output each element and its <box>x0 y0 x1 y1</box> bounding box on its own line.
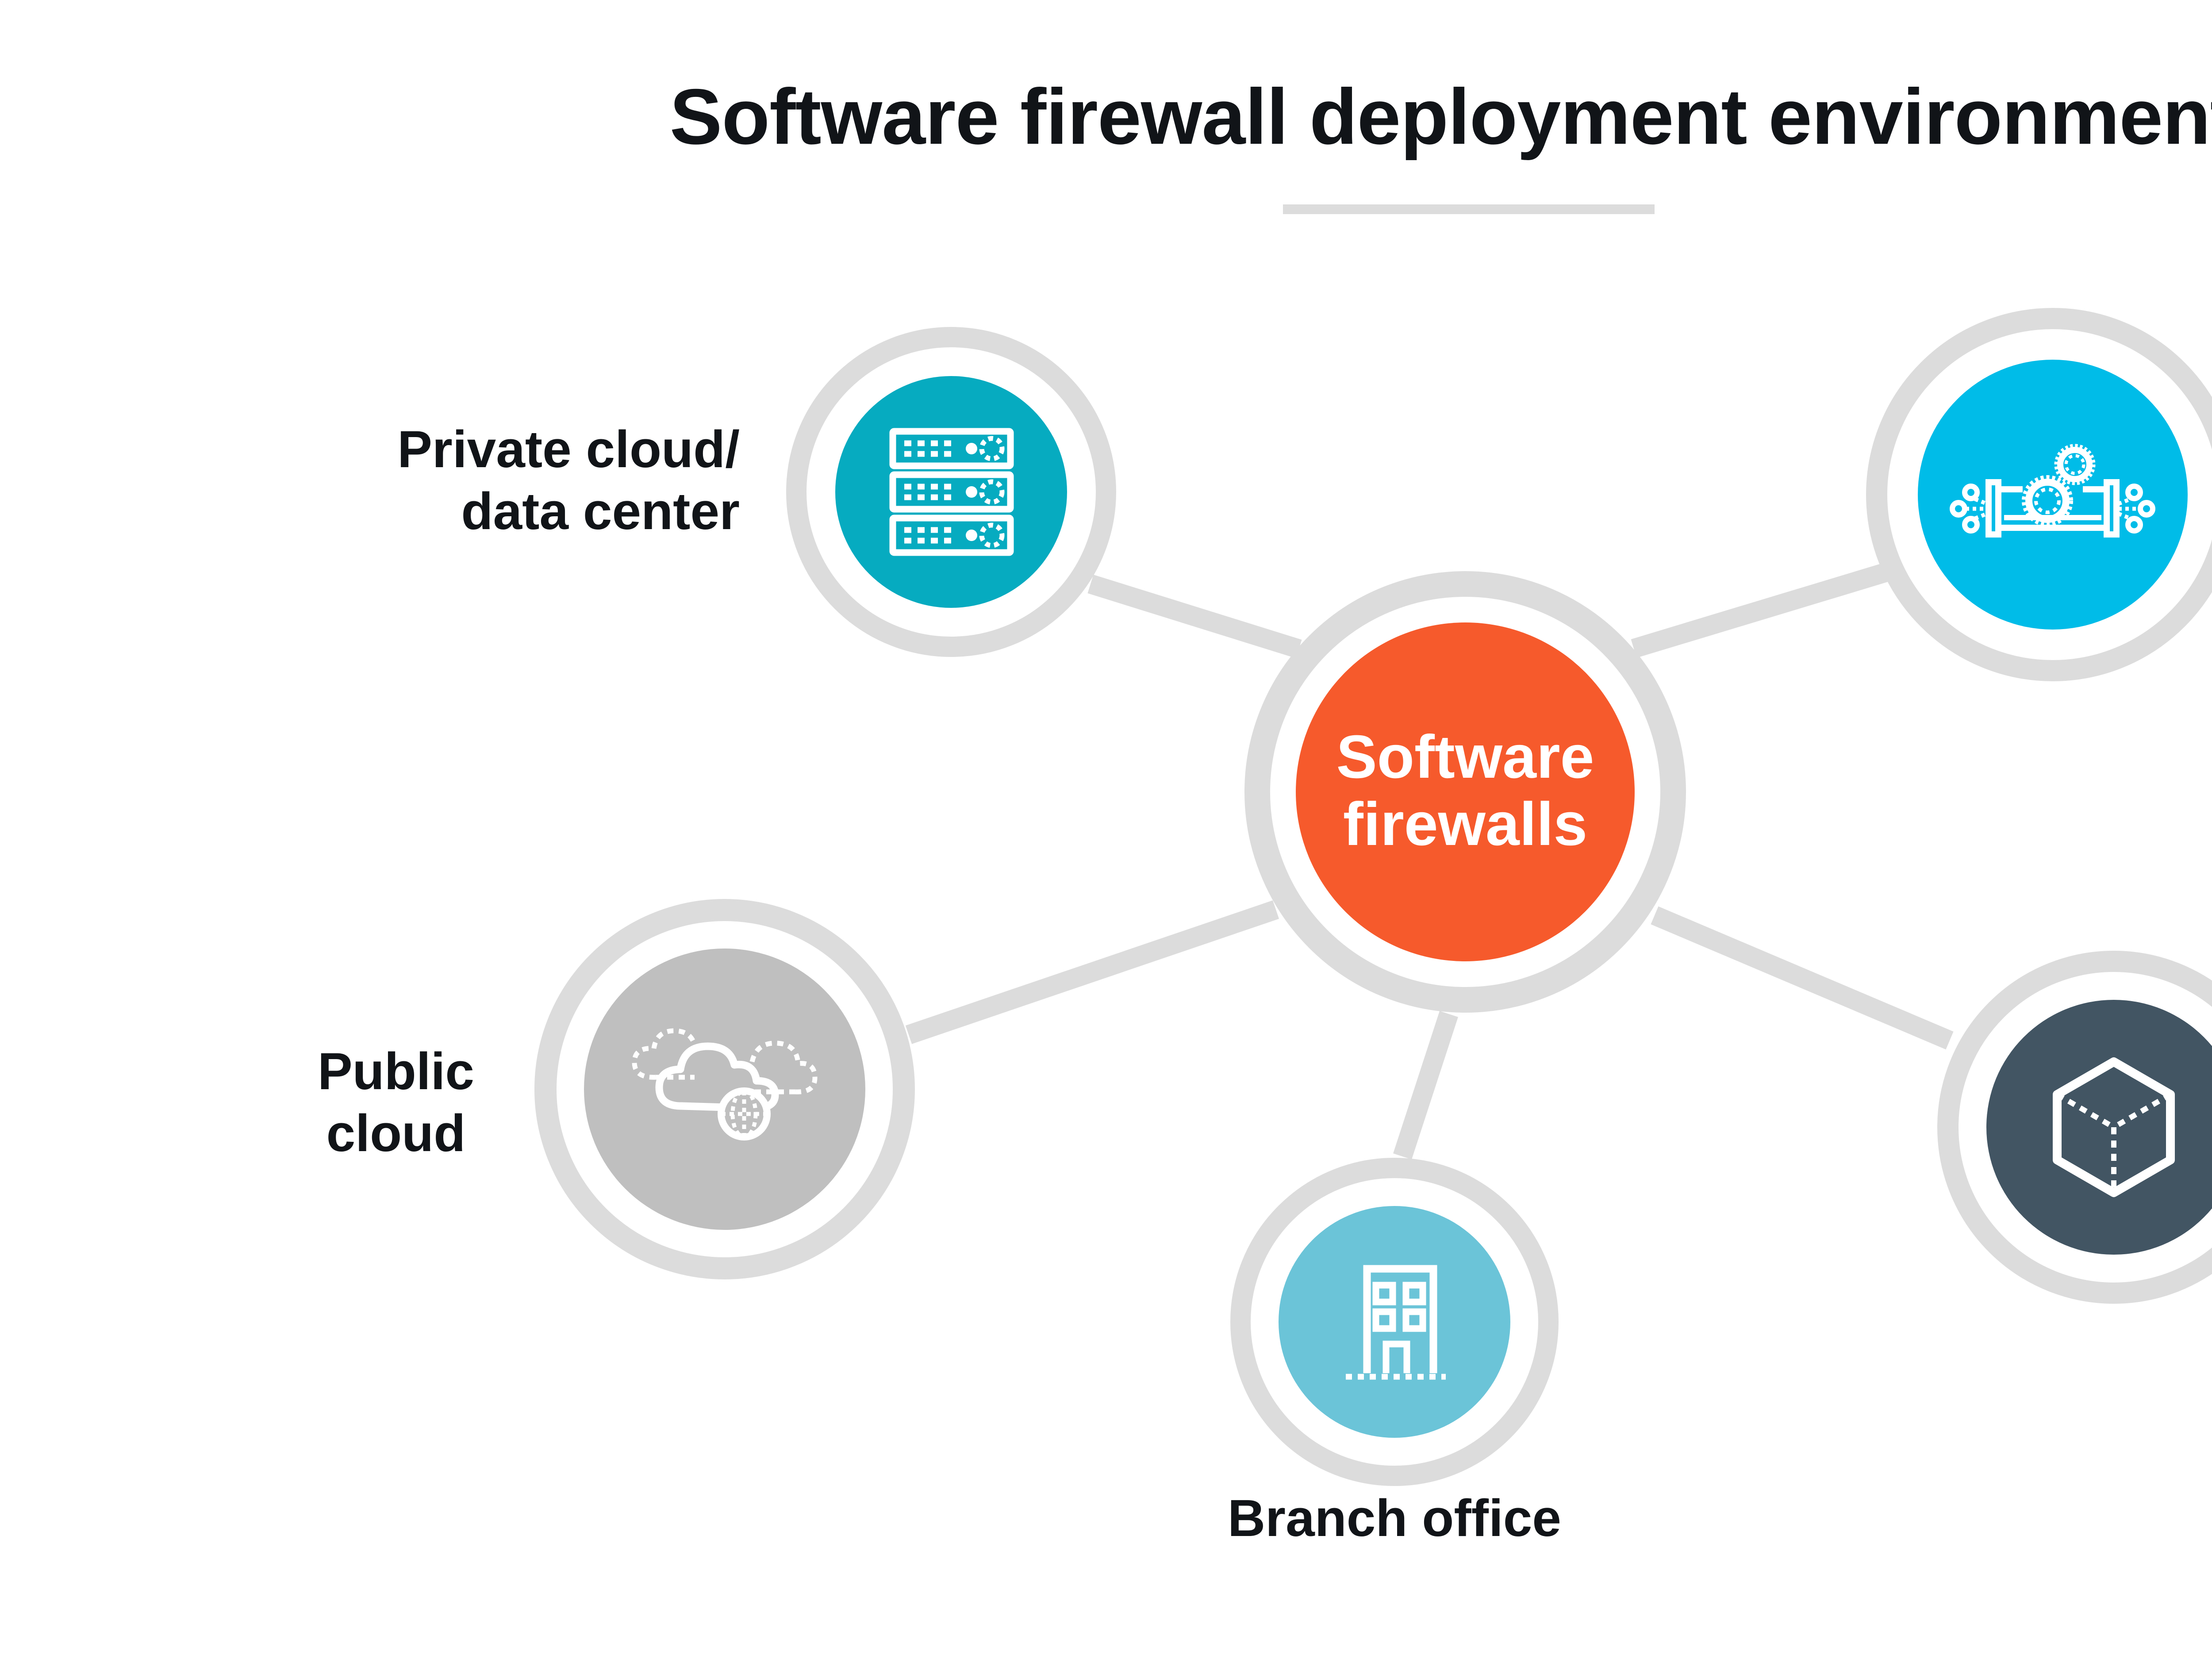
node-label-public-cloud-line2: cloud <box>326 1104 466 1163</box>
page-title: Software firewall deployment environment… <box>670 73 2212 161</box>
hub-and-spoke-diagram: Software firewall deployment environment… <box>0 0 2212 1659</box>
node-label-private-cloud-line2: data center <box>461 482 740 541</box>
connector-branch-office <box>1402 1014 1449 1156</box>
node-disc-private-cloud <box>835 376 1067 608</box>
node-private-cloud-data-center[interactable]: Private cloud/ data center <box>397 337 1106 647</box>
diagram-canvas: Software firewall deployment environment… <box>0 0 2212 1659</box>
node-disc-public-cloud <box>584 949 865 1230</box>
node-label-private-cloud-line1: Private cloud/ <box>397 420 740 479</box>
node-disc-devops-pipeline <box>1918 360 2188 630</box>
node-devops-pipeline[interactable]: DevOps pipeline <box>1877 319 2212 671</box>
node-branch-office[interactable]: Branch office <box>1228 1168 1561 1548</box>
node-disc-container-environment <box>1986 1000 2212 1255</box>
hub-label-line1: Software <box>1336 723 1594 791</box>
node-public-cloud[interactable]: Public cloud <box>318 910 904 1268</box>
node-container-environment[interactable]: Container environment <box>1948 961 2212 1340</box>
node-label-public-cloud-line1: Public <box>318 1042 474 1101</box>
connector-container-environment <box>1655 915 1950 1041</box>
hub-software-firewalls[interactable]: Software firewalls <box>1257 584 1673 1000</box>
connector-public-cloud <box>909 910 1276 1035</box>
connector-private-cloud <box>1091 584 1299 649</box>
hub-label-line2: firewalls <box>1343 790 1587 858</box>
node-label-branch-office-line1: Branch office <box>1228 1489 1561 1548</box>
connector-devops-pipeline <box>1634 571 1891 649</box>
title-divider <box>1283 204 1655 214</box>
globe-icon <box>721 1091 767 1137</box>
